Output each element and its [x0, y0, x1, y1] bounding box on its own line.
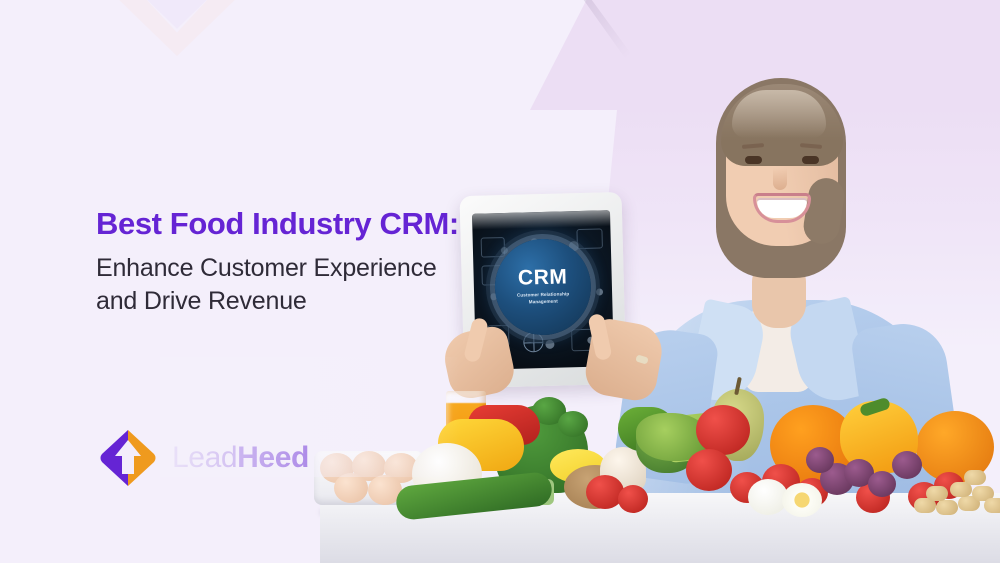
food-arrangement [300, 377, 1000, 517]
red-grape [806, 447, 834, 473]
page-subtitle-line-1: Enhance Customer Experience [96, 254, 437, 282]
tablet-screen-glare [472, 210, 610, 230]
boiled-egg-half [782, 483, 822, 517]
crm-badge: CRM Customer Relationship Management [494, 238, 592, 336]
peanut [984, 498, 1000, 513]
screen-cloud-icon [576, 228, 603, 249]
brand-logo-wordmark: LeadHeed [172, 443, 309, 473]
brand-word-heed: Heed [237, 441, 309, 474]
woman-eye-left [745, 156, 762, 164]
screen-globe-icon [523, 332, 544, 353]
tomato [696, 405, 750, 455]
peanut [936, 500, 958, 515]
screen-node-dot [545, 340, 554, 349]
cherry-tomato [618, 485, 648, 513]
diamond-arrow-logo-mark-icon [97, 427, 159, 489]
brand-logo[interactable]: LeadHeed [97, 427, 309, 489]
woman-hair-highlight [732, 90, 826, 138]
peanut [926, 486, 948, 501]
woman-eye-right [802, 156, 819, 164]
tomato [686, 449, 732, 491]
screen-people-icon [481, 237, 506, 258]
crm-badge-title: CRM [518, 267, 568, 289]
hero-photo: CRM Customer Relationship Management [440, 0, 1000, 563]
red-grape [868, 471, 896, 497]
peanut [964, 470, 986, 485]
egg [334, 473, 368, 503]
woman-nose [773, 168, 787, 190]
screen-node-dot [596, 288, 603, 295]
crm-subtitle-line-2: Management [529, 299, 558, 305]
red-grape [892, 451, 922, 479]
broccoli-floret [558, 411, 588, 437]
crm-subtitle-line-1: Customer Relationship [517, 292, 570, 298]
banner-root: Best Food Industry CRM: Enhance Customer… [0, 0, 1000, 563]
crm-badge-subtitle: Customer Relationship Management [517, 292, 570, 307]
brand-word-lead: Lead [172, 441, 237, 474]
